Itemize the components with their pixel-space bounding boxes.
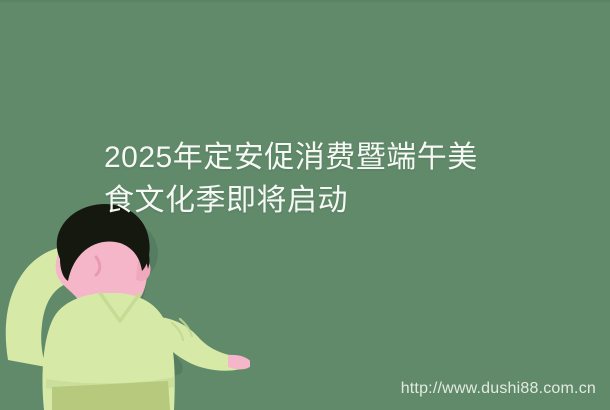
promo-banner: 2025年定安促消费暨端午美食文化季即将启动 http://www.dushi8… [0,0,610,410]
watermark-url: http://www.dushi88.com.cn [401,380,596,398]
person-scratching-head-illustration [0,195,250,410]
top-edge-divider [0,0,610,3]
page-title: 2025年定安促消费暨端午美食文化季即将启动 [104,136,504,222]
hand [228,355,250,370]
